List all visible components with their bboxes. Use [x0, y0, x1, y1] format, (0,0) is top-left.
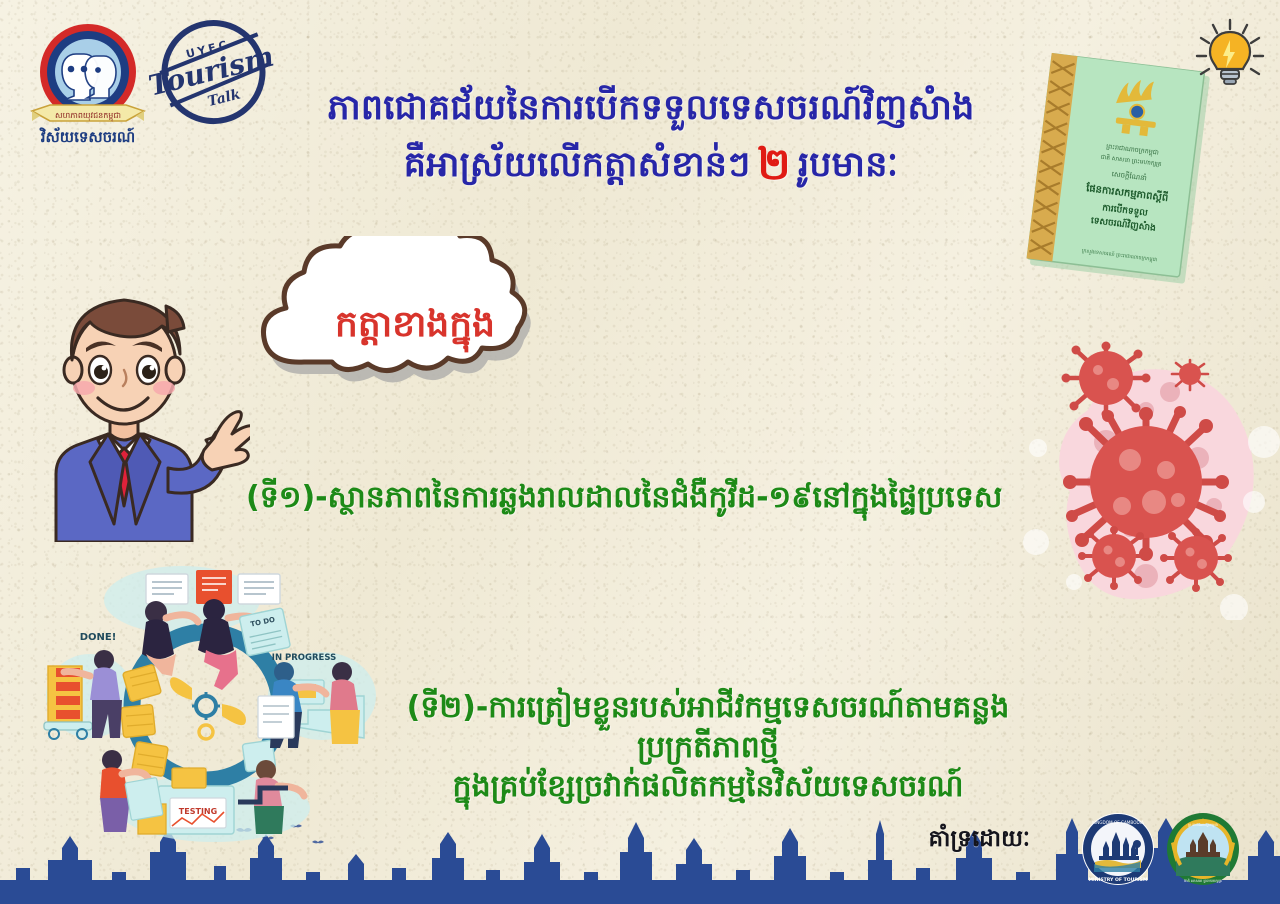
virus-particle-tiny: [1172, 360, 1208, 390]
list-item-2: (ទី២)-ការត្រៀមខ្លួនរបស់អាជីវកម្មទេសចរណ៍ត…: [378, 688, 1038, 807]
list-item-2-line-1: (ទី២)-ការត្រៀមខ្លួនរបស់អាជីវកម្មទេសចរណ៍ត…: [407, 690, 1010, 765]
lightbulb-icon: [1188, 14, 1272, 98]
agile-workflow-illustration: TO DO DONE!: [42, 556, 378, 856]
ministry-ring-top: KINGDOM OF CAMBODIA: [1092, 820, 1144, 825]
national-emblem: ព្រះរាជាណាចក្រកម្ពុជា ជាតិ សាសនា ព្រះមហា…: [1166, 812, 1240, 886]
tourism-talk-stamp: UYFC Tourism Talk: [146, 16, 282, 134]
list-item-1: (ទី១)-ស្ថានភាពនៃការឆ្លងរាលដាលនៃជំងឺកូវីដ…: [246, 478, 1002, 518]
guideline-booklet: ព្រះរាជាណាចក្រកម្ពុជា ជាតិ សាសនា ព្រះមហា…: [1026, 53, 1213, 286]
title-number: ២: [750, 139, 798, 190]
workflow-label-inprogress: IN PROGRESS: [272, 653, 336, 663]
cloud-callout: កត្តាខាងក្នុង: [250, 236, 580, 436]
uyfc-caption: វិស័យទេសចរណ៍: [39, 127, 136, 146]
virus-particle-small-top: [1062, 342, 1151, 419]
workflow-label-done: DONE!: [80, 632, 117, 643]
virus-particle-small-bottomleft: [1078, 526, 1150, 590]
list-item-2-line-2: ក្នុងគ្រប់ខ្សែច្រវាក់ផលិតកម្មនៃវិស័យទេសច…: [378, 767, 1038, 807]
national-emblem-bottom-text: ជាតិ សាសនា ព្រះមហាក្សត្រ: [1184, 878, 1223, 883]
ministry-of-tourism-emblem: KINGDOM OF CAMBODIA MINISTRY OF TOURISM: [1081, 812, 1155, 886]
businessman-presenter-illustration: [18, 262, 250, 542]
ministry-ring-text: MINISTRY OF TOURISM: [1088, 877, 1147, 883]
title-line-2-before: គឺអាស្រ័យលើកត្តាសំខាន់ៗ: [404, 145, 751, 185]
list-item-1-line-1: (ទី១)-ស្ថានភាពនៃការឆ្លងរាលដាលនៃជំងឺកូវីដ…: [246, 480, 1002, 515]
title-line-1: ភាពជោគជ័យនៃការបើកទទួលទេសចរណ៍វិញសំាង: [256, 86, 1046, 131]
poster-canvas: សហភាពយុវជនកម្ពុជា វិស័យទេសចរណ៍ UYFC Tour…: [0, 0, 1280, 904]
uyfc-logo: សហភាពយុវជនកម្ពុជា វិស័យទេសចរណ៍: [18, 14, 158, 156]
title-line-2: គឺអាស្រ័យលើកត្តាសំខាន់ៗ២រូបមានៈ: [256, 137, 1046, 193]
cloud-callout-label: កត្តាខាងក្នុង: [250, 236, 580, 436]
credit-label: គាំទ្រដោយៈ: [929, 825, 1030, 858]
coronavirus-illustration: [1018, 330, 1280, 620]
poster-title: ភាពជោគជ័យនៃការបើកទទួលទេសចរណ៍វិញសំាង គឺអា…: [256, 86, 1046, 193]
virus-particle-small-bottomright: [1160, 528, 1232, 592]
workflow-label-testing: TESTING: [179, 807, 217, 816]
title-line-2-after: រូបមានៈ: [798, 145, 898, 185]
